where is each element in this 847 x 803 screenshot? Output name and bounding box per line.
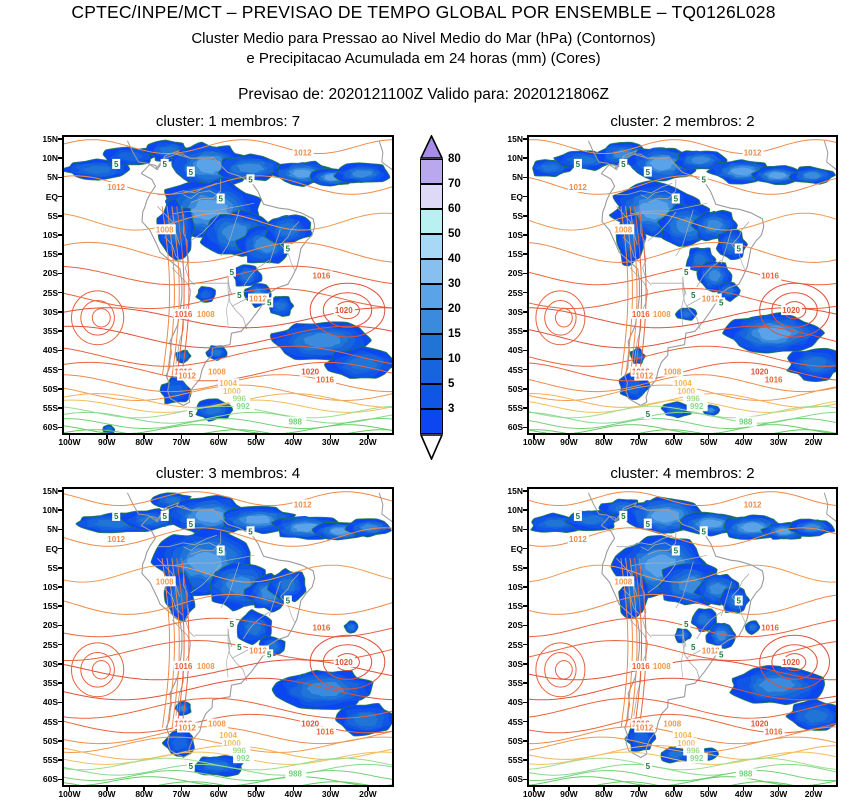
y-axis-tick-label: 40S bbox=[508, 345, 523, 355]
y-axis-tick-label: 55S bbox=[508, 403, 523, 413]
y-axis-tick bbox=[58, 388, 62, 390]
svg-text:1012: 1012 bbox=[635, 724, 653, 733]
y-axis-tick-label: 20S bbox=[508, 268, 523, 278]
svg-text:992: 992 bbox=[690, 754, 704, 763]
svg-text:1008: 1008 bbox=[197, 310, 215, 319]
y-axis-tick bbox=[58, 177, 62, 179]
y-axis-tick-label: 5N bbox=[512, 524, 523, 534]
y-axis-tick-label: 5S bbox=[513, 563, 523, 573]
svg-text:988: 988 bbox=[289, 418, 303, 427]
y-axis-tick bbox=[523, 644, 527, 646]
svg-text:1016: 1016 bbox=[765, 375, 783, 384]
svg-text:1016: 1016 bbox=[316, 375, 334, 384]
y-axis-tick bbox=[58, 625, 62, 627]
svg-text:1016: 1016 bbox=[175, 310, 193, 319]
y-axis-tick bbox=[58, 529, 62, 531]
y-axis-tick bbox=[58, 311, 62, 313]
svg-text:1008: 1008 bbox=[156, 225, 174, 234]
y-axis-tick bbox=[58, 407, 62, 409]
y-axis-tick bbox=[58, 490, 62, 492]
colorbar-tick-label: 60 bbox=[448, 203, 461, 215]
y-axis-tick bbox=[523, 196, 527, 198]
x-axis-tick bbox=[533, 787, 535, 791]
precipitation-colorbar: 80706050403020151053 bbox=[420, 135, 480, 462]
y-axis-tick bbox=[523, 253, 527, 255]
svg-text:5: 5 bbox=[646, 410, 651, 419]
x-axis-tick bbox=[813, 787, 815, 791]
svg-text:1008: 1008 bbox=[663, 720, 681, 729]
y-axis-tick-label: 25S bbox=[508, 288, 523, 298]
colorbar-tick-label: 5 bbox=[448, 378, 454, 390]
x-axis-tick bbox=[673, 787, 675, 791]
y-axis-tick bbox=[58, 605, 62, 607]
map-frame: 1012101210081016102010161008101610081020… bbox=[62, 135, 394, 435]
y-axis-tick bbox=[523, 311, 527, 313]
panel-title-cluster-1: cluster: 1 membros: 7 bbox=[62, 113, 394, 130]
y-axis-tick bbox=[58, 253, 62, 255]
y-axis-tick bbox=[58, 740, 62, 742]
x-axis-tick bbox=[367, 435, 369, 439]
y-axis-tick-label: 40S bbox=[43, 345, 58, 355]
y-axis-tick bbox=[58, 273, 62, 275]
svg-text:1016: 1016 bbox=[313, 272, 331, 281]
y-axis-tick bbox=[58, 292, 62, 294]
svg-text:5: 5 bbox=[684, 620, 689, 629]
x-axis-tick bbox=[638, 787, 640, 791]
x-axis-tick bbox=[778, 787, 780, 791]
y-axis-tick-label: 35S bbox=[508, 678, 523, 688]
y-axis-tick-label: 20S bbox=[508, 620, 523, 630]
cluster-panel-3: cluster: 3 membros: 41012101210081016102… bbox=[62, 487, 394, 787]
y-axis-tick-label: 45S bbox=[43, 365, 58, 375]
svg-text:5: 5 bbox=[248, 528, 253, 537]
x-axis-tick bbox=[330, 787, 332, 791]
svg-text:5: 5 bbox=[684, 268, 689, 277]
y-axis-tick bbox=[523, 605, 527, 607]
svg-text:1012: 1012 bbox=[107, 183, 125, 192]
svg-text:1020: 1020 bbox=[335, 658, 353, 667]
y-axis-tick-label: 60S bbox=[508, 422, 523, 432]
y-axis-tick-label: 35S bbox=[43, 678, 58, 688]
x-axis-tick bbox=[813, 435, 815, 439]
svg-text:5: 5 bbox=[189, 410, 194, 419]
svg-text:5: 5 bbox=[237, 291, 242, 300]
colorbar-segment bbox=[420, 259, 443, 284]
y-axis-tick bbox=[523, 567, 527, 569]
y-axis-tick bbox=[523, 350, 527, 352]
colorbar-segment bbox=[420, 384, 443, 409]
x-axis-tick bbox=[568, 435, 570, 439]
y-axis-tick-label: 15N bbox=[507, 134, 523, 144]
svg-text:5: 5 bbox=[286, 597, 291, 606]
colorbar-segment bbox=[420, 284, 443, 309]
x-axis-tick bbox=[218, 787, 220, 791]
colorbar-segment bbox=[420, 234, 443, 259]
x-axis-tick bbox=[603, 787, 605, 791]
svg-text:1008: 1008 bbox=[653, 310, 671, 319]
x-axis-tick bbox=[181, 787, 183, 791]
y-axis-tick-label: 5S bbox=[48, 563, 58, 573]
x-axis-tick bbox=[143, 435, 145, 439]
x-axis-tick bbox=[218, 435, 220, 439]
colorbar-tick-label: 70 bbox=[448, 178, 461, 190]
y-axis-tick bbox=[523, 779, 527, 781]
svg-text:5: 5 bbox=[646, 168, 651, 177]
y-axis-tick bbox=[523, 330, 527, 332]
map-frame: 1012101210081016102010161008101610081020… bbox=[62, 487, 394, 787]
svg-text:988: 988 bbox=[289, 770, 303, 779]
y-axis-tick bbox=[58, 234, 62, 236]
y-axis-tick bbox=[523, 509, 527, 511]
svg-text:5: 5 bbox=[189, 168, 194, 177]
y-axis-tick-label: EQ bbox=[511, 544, 523, 554]
svg-text:1012: 1012 bbox=[569, 183, 587, 192]
y-axis-tick bbox=[58, 779, 62, 781]
y-axis-tick bbox=[523, 625, 527, 627]
panel-title-cluster-3: cluster: 3 membros: 4 bbox=[62, 465, 394, 482]
y-axis-tick-label: 50S bbox=[508, 384, 523, 394]
y-axis-tick bbox=[58, 509, 62, 511]
y-axis-tick-label: 5N bbox=[47, 524, 58, 534]
svg-text:1016: 1016 bbox=[761, 272, 779, 281]
svg-text:1012: 1012 bbox=[744, 148, 762, 157]
x-axis-tick bbox=[255, 435, 257, 439]
y-axis-tick-label: 55S bbox=[43, 403, 58, 413]
colorbar-tick-label: 10 bbox=[448, 353, 461, 365]
svg-text:5: 5 bbox=[736, 597, 741, 606]
y-axis-tick bbox=[523, 529, 527, 531]
y-axis-tick-label: 60S bbox=[43, 422, 58, 432]
y-axis-tick-label: 10N bbox=[42, 153, 58, 163]
svg-text:1008: 1008 bbox=[653, 662, 671, 671]
y-axis-tick-label: 30S bbox=[508, 307, 523, 317]
svg-text:5: 5 bbox=[691, 643, 696, 652]
y-axis-tick-label: 45S bbox=[508, 365, 523, 375]
y-axis-tick-label: 15S bbox=[43, 249, 58, 259]
colorbar-tick-label: 30 bbox=[448, 278, 461, 290]
x-axis-tick bbox=[293, 435, 295, 439]
svg-text:5: 5 bbox=[267, 299, 272, 308]
y-axis-tick bbox=[523, 157, 527, 159]
y-axis-tick-label: 10S bbox=[508, 230, 523, 240]
y-axis-tick bbox=[523, 740, 527, 742]
y-axis-tick-label: 15N bbox=[42, 486, 58, 496]
y-axis-tick bbox=[58, 567, 62, 569]
x-axis-tick bbox=[603, 435, 605, 439]
svg-text:5: 5 bbox=[719, 299, 724, 308]
svg-text:5: 5 bbox=[162, 512, 167, 521]
svg-text:1016: 1016 bbox=[313, 624, 331, 633]
svg-text:988: 988 bbox=[739, 770, 753, 779]
colorbar-segment bbox=[420, 184, 443, 209]
y-axis-tick-label: EQ bbox=[46, 192, 58, 202]
svg-text:5: 5 bbox=[646, 762, 651, 771]
cluster-panel-1: cluster: 1 membros: 71012101210081016102… bbox=[62, 135, 394, 435]
y-axis-tick-label: 50S bbox=[43, 736, 58, 746]
svg-text:1012: 1012 bbox=[107, 535, 125, 544]
y-axis-tick-label: EQ bbox=[46, 544, 58, 554]
colorbar-tick-label: 20 bbox=[448, 303, 461, 315]
y-axis-tick-label: 5N bbox=[512, 172, 523, 182]
y-axis-tick bbox=[58, 427, 62, 429]
svg-text:5: 5 bbox=[621, 160, 626, 169]
y-axis-tick bbox=[523, 234, 527, 236]
svg-text:1012: 1012 bbox=[744, 500, 762, 509]
y-axis-tick bbox=[58, 330, 62, 332]
y-axis-tick bbox=[523, 427, 527, 429]
panel-title-cluster-4: cluster: 4 membros: 2 bbox=[527, 465, 838, 482]
y-axis-tick-label: 50S bbox=[43, 384, 58, 394]
svg-text:988: 988 bbox=[739, 418, 753, 427]
y-axis-tick bbox=[523, 215, 527, 217]
svg-text:5: 5 bbox=[701, 528, 706, 537]
colorbar-segment bbox=[420, 159, 443, 184]
y-axis-tick bbox=[58, 369, 62, 371]
x-axis-tick bbox=[106, 435, 108, 439]
y-axis-tick-label: 20S bbox=[43, 620, 58, 630]
x-axis-tick bbox=[708, 787, 710, 791]
y-axis-tick-label: 10N bbox=[507, 505, 523, 515]
svg-text:1012: 1012 bbox=[569, 535, 587, 544]
y-axis-tick-label: 40S bbox=[43, 697, 58, 707]
x-axis-tick bbox=[533, 435, 535, 439]
y-axis-tick-label: 5S bbox=[48, 211, 58, 221]
svg-text:5: 5 bbox=[701, 176, 706, 185]
y-axis-tick bbox=[58, 759, 62, 761]
svg-text:5: 5 bbox=[248, 176, 253, 185]
y-axis-tick-label: 60S bbox=[508, 774, 523, 784]
y-axis-tick-label: EQ bbox=[511, 192, 523, 202]
y-axis-tick-label: 60S bbox=[43, 774, 58, 784]
svg-text:5: 5 bbox=[114, 512, 119, 521]
svg-text:1016: 1016 bbox=[761, 624, 779, 633]
cluster-panel-4: cluster: 4 membros: 21012101210081016102… bbox=[527, 487, 838, 787]
svg-text:5: 5 bbox=[237, 643, 242, 652]
svg-text:1012: 1012 bbox=[294, 148, 312, 157]
svg-text:1008: 1008 bbox=[614, 577, 632, 586]
y-axis-tick bbox=[58, 138, 62, 140]
y-axis-tick bbox=[58, 215, 62, 217]
colorbar-tick-label: 40 bbox=[448, 253, 461, 265]
svg-text:5: 5 bbox=[621, 512, 626, 521]
svg-text:5: 5 bbox=[230, 268, 235, 277]
y-axis-tick-label: 55S bbox=[508, 755, 523, 765]
page-title: CPTEC/INPE/MCT – PREVISAO DE TEMPO GLOBA… bbox=[0, 2, 847, 23]
cluster-panel-2: cluster: 2 membros: 21012101210081016102… bbox=[527, 135, 838, 435]
svg-text:5: 5 bbox=[286, 245, 291, 254]
svg-text:1020: 1020 bbox=[782, 658, 800, 667]
colorbar-tick-label: 80 bbox=[448, 153, 461, 165]
y-axis-tick bbox=[58, 350, 62, 352]
svg-text:5: 5 bbox=[189, 762, 194, 771]
svg-text:1016: 1016 bbox=[765, 727, 783, 736]
colorbar-segment bbox=[420, 334, 443, 359]
svg-text:5: 5 bbox=[576, 160, 581, 169]
y-axis-tick-label: 50S bbox=[508, 736, 523, 746]
svg-text:1012: 1012 bbox=[635, 372, 653, 381]
y-axis-tick-label: 15S bbox=[43, 601, 58, 611]
x-axis-tick bbox=[143, 787, 145, 791]
x-axis-tick bbox=[69, 787, 71, 791]
x-axis-tick bbox=[106, 787, 108, 791]
svg-text:1008: 1008 bbox=[663, 368, 681, 377]
x-axis-tick bbox=[743, 787, 745, 791]
y-axis-tick bbox=[58, 157, 62, 159]
svg-text:5: 5 bbox=[218, 547, 223, 556]
y-axis-tick-label: 25S bbox=[43, 640, 58, 650]
y-axis-tick-label: 45S bbox=[43, 717, 58, 727]
svg-text:1008: 1008 bbox=[197, 662, 215, 671]
colorbar-over-arrow bbox=[420, 135, 443, 159]
colorbar-segment bbox=[420, 309, 443, 334]
svg-text:1012: 1012 bbox=[178, 724, 196, 733]
y-axis-tick-label: 35S bbox=[43, 326, 58, 336]
y-axis-tick-label: 30S bbox=[508, 659, 523, 669]
map-frame: 1012101210081016102010161008101610081020… bbox=[527, 487, 838, 787]
x-axis-tick bbox=[293, 787, 295, 791]
x-axis-tick bbox=[708, 435, 710, 439]
svg-text:1008: 1008 bbox=[208, 720, 226, 729]
x-axis-tick bbox=[181, 435, 183, 439]
svg-text:992: 992 bbox=[690, 402, 704, 411]
x-axis-tick bbox=[568, 787, 570, 791]
y-axis-tick-label: 15N bbox=[42, 134, 58, 144]
panel-title-cluster-2: cluster: 2 membros: 2 bbox=[527, 113, 838, 130]
y-axis-tick bbox=[523, 586, 527, 588]
svg-text:992: 992 bbox=[236, 754, 250, 763]
y-axis-tick-label: 20S bbox=[43, 268, 58, 278]
x-axis-tick bbox=[330, 435, 332, 439]
y-axis-tick-label: 10S bbox=[43, 582, 58, 592]
svg-text:5: 5 bbox=[189, 520, 194, 529]
y-axis-tick bbox=[523, 721, 527, 723]
y-axis-tick-label: 40S bbox=[508, 697, 523, 707]
y-axis-tick bbox=[58, 702, 62, 704]
svg-text:1012: 1012 bbox=[178, 372, 196, 381]
x-axis-tick bbox=[638, 435, 640, 439]
y-axis-tick bbox=[58, 586, 62, 588]
svg-text:1012: 1012 bbox=[249, 647, 267, 656]
svg-text:1016: 1016 bbox=[632, 310, 650, 319]
y-axis-tick-label: 25S bbox=[508, 640, 523, 650]
svg-text:5: 5 bbox=[674, 547, 679, 556]
colorbar-tick-label: 15 bbox=[448, 328, 461, 340]
svg-text:1016: 1016 bbox=[175, 662, 193, 671]
svg-text:5: 5 bbox=[162, 160, 167, 169]
svg-text:1012: 1012 bbox=[249, 295, 267, 304]
y-axis-tick bbox=[523, 369, 527, 371]
svg-text:1016: 1016 bbox=[316, 727, 334, 736]
y-axis-tick bbox=[523, 759, 527, 761]
map-frame: 1012101210081016102010161008101610081020… bbox=[527, 135, 838, 435]
y-axis-tick-label: 10N bbox=[42, 505, 58, 515]
colorbar-tick-label: 50 bbox=[448, 228, 461, 240]
svg-text:1008: 1008 bbox=[156, 577, 174, 586]
x-axis-tick bbox=[69, 435, 71, 439]
y-axis-tick-label: 15N bbox=[507, 486, 523, 496]
y-axis-tick bbox=[523, 292, 527, 294]
y-axis-tick-label: 10S bbox=[508, 582, 523, 592]
subtitle-line-2: e Precipitacao Acumulada em 24 horas (mm… bbox=[0, 50, 847, 67]
svg-text:1016: 1016 bbox=[632, 662, 650, 671]
y-axis-tick bbox=[58, 644, 62, 646]
svg-text:1020: 1020 bbox=[782, 306, 800, 315]
y-axis-tick bbox=[523, 702, 527, 704]
y-axis-tick bbox=[58, 682, 62, 684]
y-axis-tick bbox=[523, 663, 527, 665]
colorbar-under-arrow bbox=[420, 434, 443, 460]
x-axis-tick bbox=[743, 435, 745, 439]
x-axis-tick bbox=[673, 435, 675, 439]
svg-text:1020: 1020 bbox=[335, 306, 353, 315]
y-axis-tick bbox=[523, 177, 527, 179]
y-axis-tick-label: 25S bbox=[43, 288, 58, 298]
subtitle-line-1: Cluster Medio para Pressao ao Nivel Medi… bbox=[0, 30, 847, 47]
svg-text:5: 5 bbox=[646, 520, 651, 529]
y-axis-tick-label: 30S bbox=[43, 659, 58, 669]
svg-text:992: 992 bbox=[236, 402, 250, 411]
svg-text:5: 5 bbox=[576, 512, 581, 521]
y-axis-tick-label: 45S bbox=[508, 717, 523, 727]
y-axis-tick-label: 15S bbox=[508, 249, 523, 259]
svg-text:5: 5 bbox=[736, 245, 741, 254]
y-axis-tick bbox=[523, 138, 527, 140]
y-axis-tick-label: 30S bbox=[43, 307, 58, 317]
svg-text:5: 5 bbox=[230, 620, 235, 629]
y-axis-tick bbox=[523, 682, 527, 684]
x-axis-tick bbox=[255, 787, 257, 791]
svg-text:5: 5 bbox=[719, 651, 724, 660]
y-axis-tick-label: 10S bbox=[43, 230, 58, 240]
y-axis-tick-label: 15S bbox=[508, 601, 523, 611]
x-axis-tick bbox=[778, 435, 780, 439]
colorbar-segment bbox=[420, 409, 443, 434]
y-axis-tick bbox=[58, 196, 62, 198]
svg-text:5: 5 bbox=[267, 651, 272, 660]
y-axis-tick-label: 10N bbox=[507, 153, 523, 163]
colorbar-segment bbox=[420, 209, 443, 234]
y-axis-tick bbox=[523, 548, 527, 550]
y-axis-tick bbox=[523, 490, 527, 492]
y-axis-tick bbox=[58, 548, 62, 550]
x-axis-tick bbox=[367, 787, 369, 791]
y-axis-tick bbox=[523, 388, 527, 390]
y-axis-tick-label: 5S bbox=[513, 211, 523, 221]
y-axis-tick bbox=[523, 273, 527, 275]
svg-text:1008: 1008 bbox=[614, 225, 632, 234]
y-axis-tick-label: 35S bbox=[508, 326, 523, 336]
y-axis-tick-label: 55S bbox=[43, 755, 58, 765]
svg-text:5: 5 bbox=[218, 195, 223, 204]
svg-text:1008: 1008 bbox=[208, 368, 226, 377]
y-axis-tick bbox=[58, 663, 62, 665]
svg-text:5: 5 bbox=[691, 291, 696, 300]
colorbar-tick-label: 3 bbox=[448, 403, 454, 415]
svg-text:5: 5 bbox=[674, 195, 679, 204]
y-axis-tick-label: 5N bbox=[47, 172, 58, 182]
y-axis-tick bbox=[58, 721, 62, 723]
forecast-run-line: Previsao de: 2020121100Z Valido para: 20… bbox=[0, 86, 847, 104]
svg-text:1012: 1012 bbox=[294, 500, 312, 509]
colorbar-segment bbox=[420, 359, 443, 384]
y-axis-tick bbox=[523, 407, 527, 409]
svg-text:5: 5 bbox=[114, 160, 119, 169]
